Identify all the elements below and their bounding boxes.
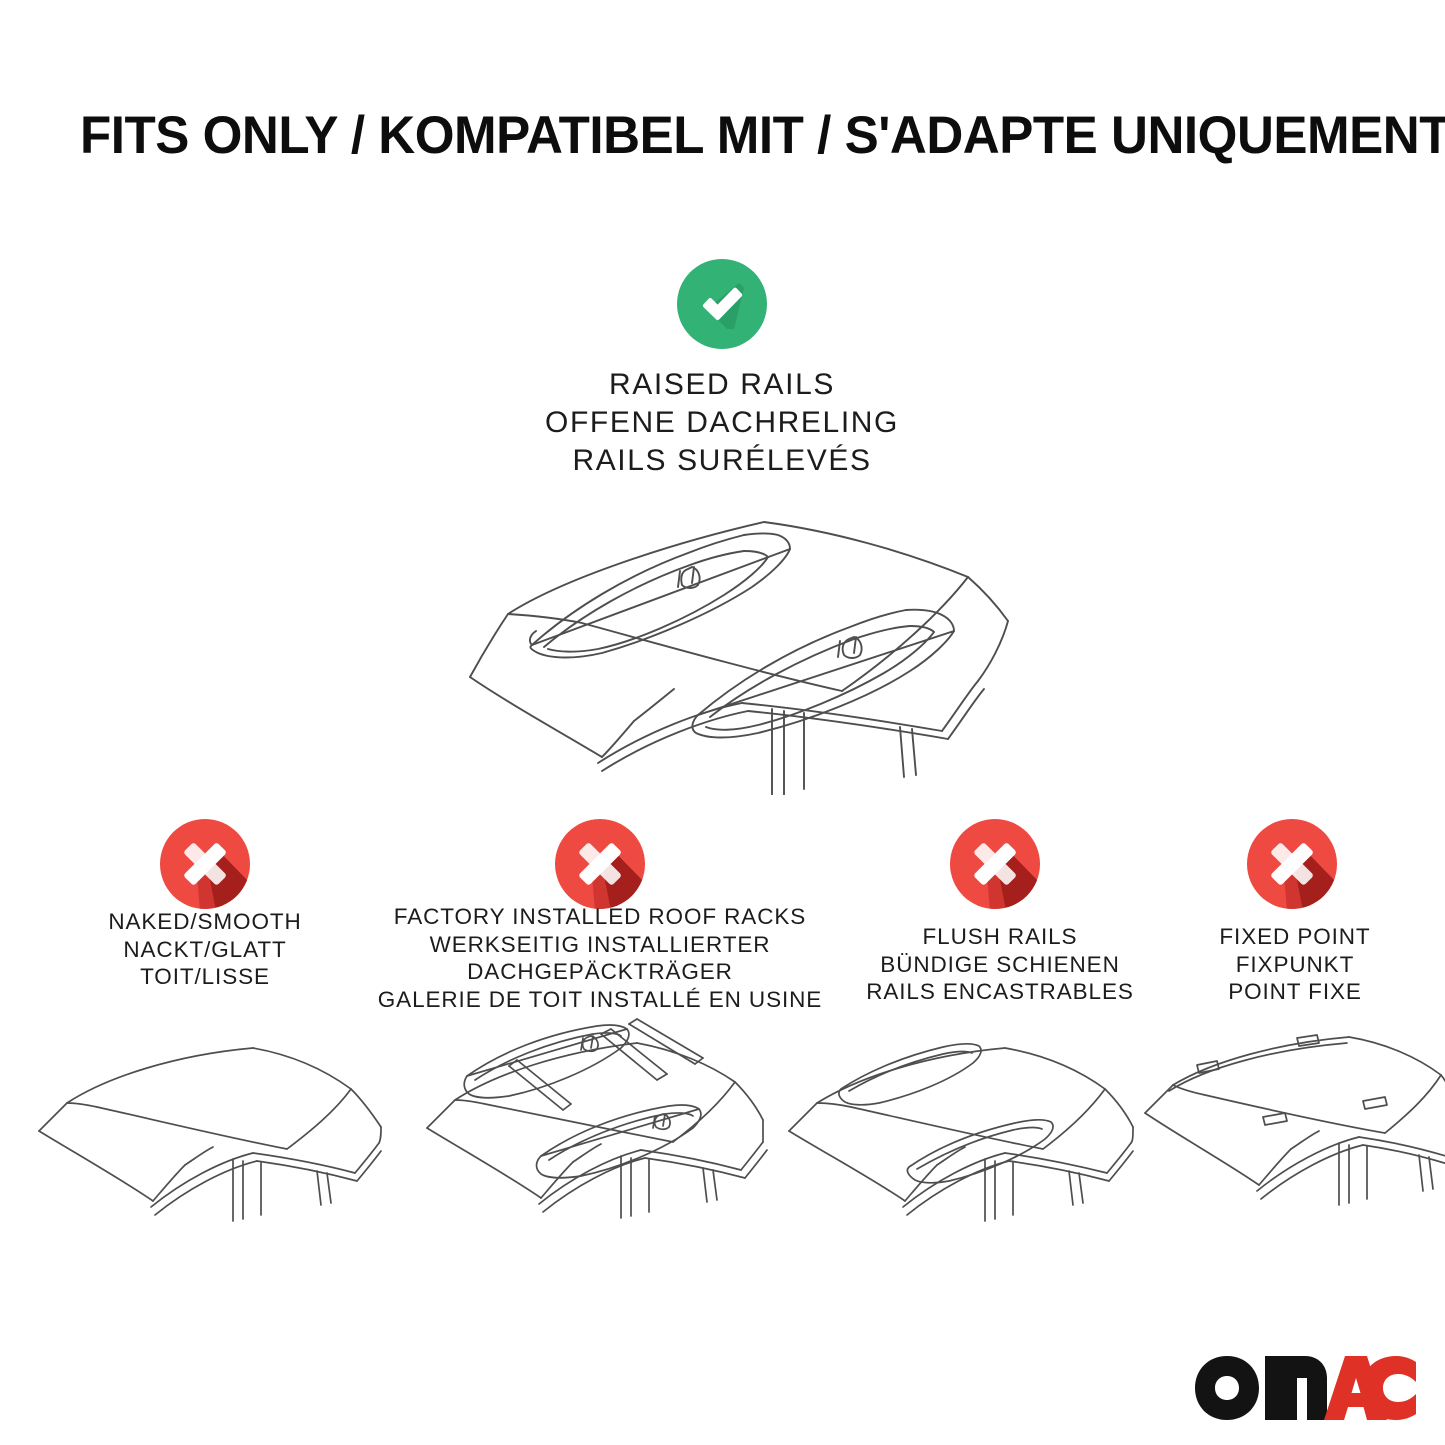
label-line: FACTORY INSTALLED ROOF RACKS [365,903,835,931]
cross-circle-icon [555,819,645,909]
compatibility-infographic: FITS ONLY / KOMPATIBEL MIT / S'ADAPTE UN… [0,0,1445,1445]
car-roof-factory-racks-illustration [405,1010,775,1245]
raised-rails-label: RAISED RAILS OFFENE DACHRELING RAILS SUR… [422,366,1022,480]
label-line: FLUSH RAILS [830,923,1170,951]
label-line: NACKT/GLATT [35,936,375,964]
car-roof-naked-smooth-illustration [25,1025,385,1240]
cross-circle-icon [160,819,250,909]
car-roof-raised-rails-illustration [412,495,1032,795]
label-line: DACHGEPÄCKTRÄGER [365,958,835,986]
label-line: POINT FIXE [1125,978,1445,1006]
page-title: FITS ONLY / KOMPATIBEL MIT / S'ADAPTE UN… [80,106,1335,166]
label-line: FIXPUNKT [1125,951,1445,979]
label-line: RAILS ENCASTRABLES [830,978,1170,1006]
cross-circle-icon [1247,819,1337,909]
label-line: FIXED POINT [1125,923,1445,951]
factory-racks-label: FACTORY INSTALLED ROOF RACKS WERKSEITIG … [365,903,835,1013]
label-line: GALERIE DE TOIT INSTALLÉ EN USINE [365,986,835,1014]
car-roof-fixed-point-illustration [1135,1025,1445,1240]
label-line: RAISED RAILS [422,366,1022,404]
omac-logo [1193,1352,1418,1424]
flush-rails-label: FLUSH RAILS BÜNDIGE SCHIENEN RAILS ENCAS… [830,923,1170,1006]
label-line: NAKED/SMOOTH [35,908,375,936]
check-circle-icon [677,259,767,349]
label-line: RAILS SURÉLEVÉS [422,442,1022,480]
label-line: OFFENE DACHRELING [422,404,1022,442]
fixed-point-label: FIXED POINT FIXPUNKT POINT FIXE [1125,923,1445,1006]
label-line: BÜNDIGE SCHIENEN [830,951,1170,979]
label-line: TOIT/LISSE [35,963,375,991]
naked-smooth-label: NAKED/SMOOTH NACKT/GLATT TOIT/LISSE [35,908,375,991]
label-line: WERKSEITIG INSTALLIERTER [365,931,835,959]
car-roof-flush-rails-illustration [775,1025,1145,1240]
cross-circle-icon [950,819,1040,909]
